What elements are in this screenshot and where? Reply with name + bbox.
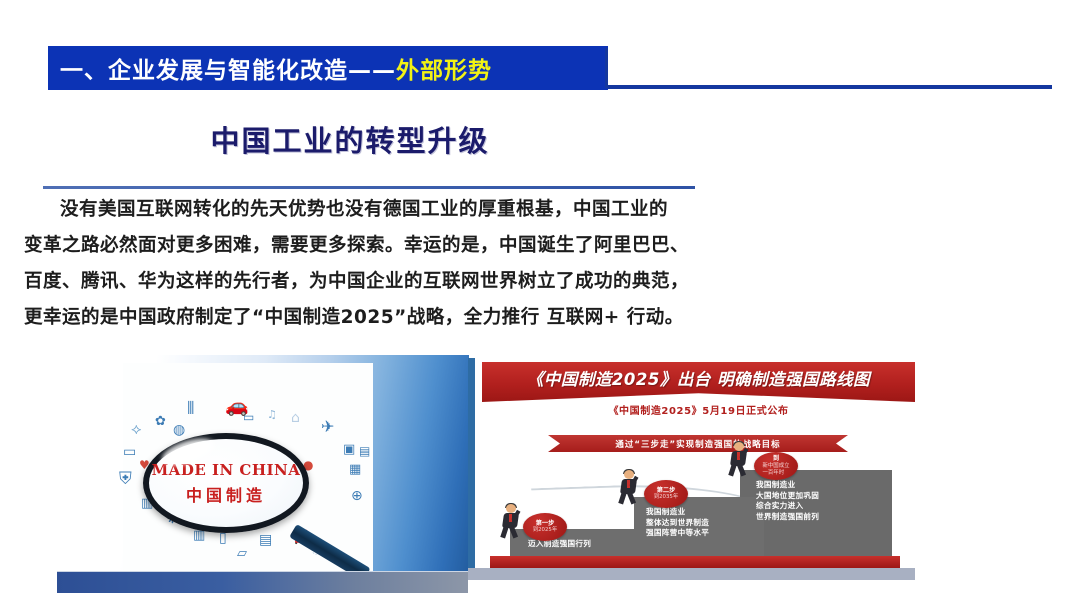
roadmap-runner-3	[726, 442, 752, 476]
page-title: 中国工业的转型升级	[0, 118, 700, 160]
roadmap-runner-1	[498, 504, 524, 538]
wind-turbine-icon: ⟡	[131, 421, 142, 437]
factory-icon: ⦀	[187, 401, 194, 418]
roadmap-step-2-badge-sub: 到2035年	[654, 494, 679, 501]
wheel-icon: ◍	[173, 423, 185, 437]
section-title-accent: 外部形势	[396, 58, 492, 84]
roadmap-step-3-badge-sub: 新中国成立一百年时	[763, 463, 790, 477]
camera-icon: ▣	[343, 443, 355, 456]
roadmap-banner-subtitle: 《中国制造2025》5月19日正式公布	[482, 402, 915, 417]
made-in-china-magnifier-image: ⦀ 🚗 ♫ ⌂ ✈ ⟡ ✿ ◍ ▣ ▤ ▦ ▭ ⛨ ▥ ❋ ▥ ▯ ▤ 🚘 ⊕ …	[57, 355, 469, 593]
roadmap-runner-2	[616, 470, 642, 504]
globe-icon: ⊕	[351, 489, 363, 503]
roadmap-step-2-badge: 第二步 到2035年	[644, 480, 688, 508]
roadmap-stage-3-label: 我国制造业大国地位更加巩固综合实力进入世界制造强国前列	[756, 480, 819, 522]
roadmap-banner: 《中国制造2025》出台 明确制造强国路线图	[482, 362, 915, 402]
bus-icon: ▤	[259, 533, 272, 547]
section-title-main: 企业发展与智能化改造——	[108, 58, 396, 84]
train-icon: ▦	[349, 463, 361, 476]
airplane-icon: ✈	[321, 419, 334, 435]
gear-icon: ✿	[155, 415, 166, 428]
slide-bottom-edge	[0, 602, 1080, 608]
header-rule	[608, 85, 1052, 89]
header-rule-cap	[605, 48, 608, 88]
robot-icon: ⛨	[119, 471, 132, 488]
tv-icon: ▭	[243, 411, 254, 423]
battery-icon: ▤	[359, 445, 370, 457]
roadmap-step-3-badge: 到 新中国成立一百年时	[754, 452, 798, 480]
slide-root: 一、企业发展与智能化改造——外部形势 中国工业的转型升级 没有美国互联网转化的先…	[0, 0, 1080, 608]
roadmap-red-base	[490, 556, 900, 568]
music-icon: ♫	[267, 409, 277, 420]
section-header-banner: 一、企业发展与智能化改造——外部形势	[48, 46, 608, 90]
roadmap-stage-2-label: 我国制造业整体达到世界制造强国阵营中等水平	[646, 507, 709, 539]
roadmap-step-1-badge-sub: 到2025年	[533, 527, 558, 534]
roadmap-step-3-badge-title: 到	[773, 455, 779, 463]
roadmap-step-1-badge: 第一步 到2025年	[523, 513, 567, 541]
roadmap-stage-1-label: 迈入制造强国行列	[528, 539, 591, 550]
laptop-icon: ▱	[237, 547, 247, 560]
body-line-1: 没有美国互联网转化的先天优势也没有德国工业的厚重根基，中国工业的	[24, 192, 704, 228]
made-in-china-2025-roadmap-image: 《中国制造2025》出台 明确制造强国路线图 《中国制造2025》5月19日正式…	[468, 358, 915, 593]
body-line-3: 百度、腾讯、华为这样的先行者，为中国企业的互联网世界树立了成功的典范，	[24, 264, 704, 300]
made-in-china-cn-text: 中国制造	[186, 482, 266, 506]
body-line-2: 变革之路必然面对更多困难，需要更多探索。幸运的是，中国诞生了阿里巴巴、	[24, 228, 704, 264]
phone-icon: ▯	[219, 531, 227, 545]
house-icon: ⌂	[291, 411, 300, 425]
right-image-left-bar	[468, 358, 475, 576]
body-divider	[43, 186, 695, 189]
magnifier-lens: MADE IN CHINA 中国制造	[143, 433, 309, 533]
locomotive-icon: ▭	[123, 445, 136, 459]
roadmap-gray-base	[468, 568, 915, 580]
section-header-text: 一、企业发展与智能化改造——外部形势	[48, 51, 492, 85]
body-paragraph: 没有美国互联网转化的先天优势也没有德国工业的厚重根基，中国工业的 变革之路必然面…	[24, 192, 704, 336]
roadmap-ribbon: 通过“三步走”实现制造强国的战略目标	[548, 435, 848, 452]
section-number: 一、	[60, 58, 108, 84]
roadmap-ribbon-text: 通过“三步走”实现制造强国的战略目标	[615, 438, 780, 450]
body-line-4: 更幸运的是中国政府制定了“中国制造2025”战略，全力推行 互联网+ 行动。	[24, 300, 704, 336]
roadmap-banner-title: 《中国制造2025》出台 明确制造强国路线图	[527, 366, 870, 390]
left-image-bottom-band	[57, 571, 469, 593]
